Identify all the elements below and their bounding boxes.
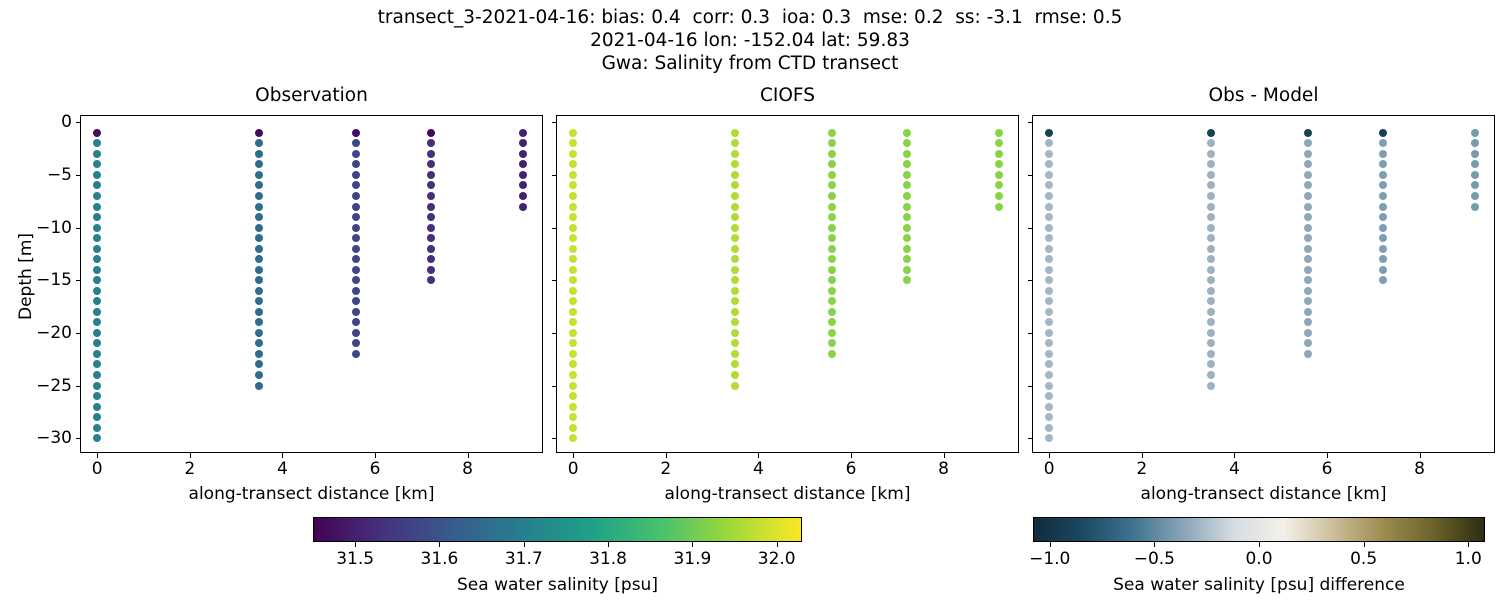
data-point [1207, 129, 1215, 137]
colorbar-tick [439, 542, 440, 547]
data-point [1304, 129, 1312, 137]
data-point [731, 213, 739, 221]
data-point [731, 255, 739, 263]
y-axis-tick [1028, 280, 1034, 281]
data-point [569, 392, 577, 400]
data-point [828, 150, 836, 158]
plot-area-observation [81, 116, 542, 452]
data-point [1045, 360, 1053, 368]
data-point [569, 434, 577, 442]
y-axis-tick [1028, 438, 1034, 439]
y-axis-tick-label: −15 [36, 270, 72, 290]
data-point [1207, 266, 1215, 274]
data-point [995, 203, 1003, 211]
data-point [731, 276, 739, 284]
colorbar-tick-label: 0.5 [1350, 549, 1377, 569]
y-axis-tick [1028, 122, 1034, 123]
data-point [1207, 360, 1215, 368]
data-point [427, 245, 435, 253]
colorbar-tick-label: 0.0 [1245, 549, 1272, 569]
data-point [569, 181, 577, 189]
colorbar-salinity-difference-label: Sea water salinity [psu] difference [1033, 575, 1485, 595]
data-point [519, 160, 527, 168]
colorbar-salinity: Sea water salinity [psu] 31.531.631.731.… [313, 517, 802, 542]
x-axis-tick-label: 8 [462, 459, 473, 479]
data-point [255, 255, 263, 263]
data-point [903, 203, 911, 211]
data-point [1045, 413, 1053, 421]
data-point [1207, 181, 1215, 189]
data-point [1207, 350, 1215, 358]
data-point [255, 192, 263, 200]
x-axis-tick [375, 452, 376, 458]
data-point [93, 129, 101, 137]
data-point [93, 318, 101, 326]
data-point [828, 350, 836, 358]
x-axis-label-obs-minus-model: along-transect distance [km] [1033, 484, 1494, 504]
data-point [1304, 203, 1312, 211]
data-point [1045, 339, 1053, 347]
data-point [731, 329, 739, 337]
data-point [569, 318, 577, 326]
data-point [255, 276, 263, 284]
x-axis-tick-label: 2 [184, 459, 195, 479]
panel-title-obs-minus-model: Obs - Model [1033, 85, 1494, 106]
x-axis-tick-label: 8 [1414, 459, 1425, 479]
data-point [903, 171, 911, 179]
colorbar-tick [608, 542, 609, 547]
data-point [352, 203, 360, 211]
y-axis-tick [552, 122, 558, 123]
data-point [255, 129, 263, 137]
data-point [569, 139, 577, 147]
data-point [255, 350, 263, 358]
colorbar-tick-label: 32.0 [758, 549, 796, 569]
data-point [828, 329, 836, 337]
data-point [1045, 266, 1053, 274]
y-axis-tick [552, 280, 558, 281]
data-point [427, 276, 435, 284]
plot-area-ciofs [557, 116, 1018, 452]
data-point [519, 192, 527, 200]
data-point [93, 413, 101, 421]
data-point [569, 129, 577, 137]
data-point [1207, 139, 1215, 147]
data-point [93, 160, 101, 168]
data-point [255, 245, 263, 253]
data-point [903, 150, 911, 158]
x-axis-label-observation: along-transect distance [km] [81, 484, 542, 504]
data-point [1207, 213, 1215, 221]
data-point [1471, 181, 1479, 189]
data-point [255, 234, 263, 242]
data-point [352, 276, 360, 284]
x-axis-tick [468, 452, 469, 458]
data-point [828, 203, 836, 211]
data-point [828, 339, 836, 347]
data-point [995, 160, 1003, 168]
panel-title-observation: Observation [81, 85, 542, 106]
data-point [1304, 255, 1312, 263]
data-point [93, 171, 101, 179]
data-point [255, 160, 263, 168]
x-axis-tick [97, 452, 98, 458]
data-point [1045, 160, 1053, 168]
data-point [1045, 245, 1053, 253]
y-axis-tick [76, 333, 82, 334]
x-axis-tick-label: 4 [1229, 459, 1240, 479]
data-point [1471, 203, 1479, 211]
data-point [903, 245, 911, 253]
data-point [352, 297, 360, 305]
data-point [569, 150, 577, 158]
data-point [1207, 318, 1215, 326]
data-point [1045, 203, 1053, 211]
data-point [828, 224, 836, 232]
data-point [93, 203, 101, 211]
colorbar-tick [1050, 542, 1051, 547]
data-point [569, 171, 577, 179]
data-point [1045, 424, 1053, 432]
data-point [731, 350, 739, 358]
data-point [731, 308, 739, 316]
x-axis-tick-label: 2 [1136, 459, 1147, 479]
y-axis-tick [76, 386, 82, 387]
data-point [1379, 139, 1387, 147]
data-point [352, 213, 360, 221]
data-point [569, 360, 577, 368]
data-point [903, 266, 911, 274]
data-point [93, 371, 101, 379]
y-axis-tick [76, 228, 82, 229]
data-point [995, 171, 1003, 179]
data-point [255, 329, 263, 337]
data-point [93, 392, 101, 400]
data-point [1045, 139, 1053, 147]
data-point [995, 192, 1003, 200]
data-point [1045, 382, 1053, 390]
y-axis-tick [1028, 228, 1034, 229]
y-axis-tick [1028, 386, 1034, 387]
data-point [1471, 129, 1479, 137]
data-point [93, 181, 101, 189]
data-point [1045, 318, 1053, 326]
data-point [93, 276, 101, 284]
data-point [828, 297, 836, 305]
data-point [255, 213, 263, 221]
data-point [903, 213, 911, 221]
data-point [1045, 371, 1053, 379]
data-point [352, 129, 360, 137]
data-point [1379, 171, 1387, 179]
data-point [1379, 255, 1387, 263]
data-point [569, 203, 577, 211]
data-point [255, 371, 263, 379]
panel-ciofs: CIOFS along-transect distance [km] 02468 [556, 115, 1019, 453]
colorbar-tick-label: −0.5 [1134, 549, 1175, 569]
data-point [1045, 350, 1053, 358]
data-point [255, 318, 263, 326]
data-point [569, 308, 577, 316]
y-axis-tick-label: −10 [36, 218, 72, 238]
data-point [569, 403, 577, 411]
data-point [352, 308, 360, 316]
data-point [828, 276, 836, 284]
data-point [731, 181, 739, 189]
data-point [1207, 382, 1215, 390]
data-point [352, 350, 360, 358]
colorbar-salinity-label: Sea water salinity [psu] [313, 575, 802, 595]
data-point [93, 339, 101, 347]
data-point [1379, 129, 1387, 137]
data-point [427, 129, 435, 137]
data-point [1045, 329, 1053, 337]
data-point [569, 213, 577, 221]
data-point [1304, 139, 1312, 147]
data-point [427, 171, 435, 179]
data-point [1045, 129, 1053, 137]
data-point [352, 171, 360, 179]
data-point [255, 171, 263, 179]
data-point [1045, 297, 1053, 305]
colorbar-tick-label: 31.8 [589, 549, 627, 569]
data-point [93, 255, 101, 263]
data-point [569, 339, 577, 347]
x-axis-tick-label: 8 [938, 459, 949, 479]
x-axis-tick [1327, 452, 1328, 458]
data-point [1045, 213, 1053, 221]
data-point [1304, 181, 1312, 189]
data-point [1045, 150, 1053, 158]
y-axis-tick [552, 228, 558, 229]
data-point [569, 371, 577, 379]
data-point [995, 150, 1003, 158]
data-point [1207, 308, 1215, 316]
data-point [352, 287, 360, 295]
x-axis-tick [573, 452, 574, 458]
data-point [731, 171, 739, 179]
data-point [1304, 308, 1312, 316]
data-point [1045, 192, 1053, 200]
data-point [93, 213, 101, 221]
data-point [1207, 171, 1215, 179]
data-point [828, 318, 836, 326]
data-point [352, 318, 360, 326]
data-point [427, 139, 435, 147]
data-point [1207, 234, 1215, 242]
data-point [352, 139, 360, 147]
data-point [427, 255, 435, 263]
data-point [1379, 203, 1387, 211]
data-point [255, 139, 263, 147]
x-axis-tick-label: 0 [1044, 459, 1055, 479]
y-axis-tick [76, 122, 82, 123]
suptitle-line-2: 2021-04-16 lon: -152.04 lat: 59.83 [0, 29, 1500, 52]
data-point [1304, 171, 1312, 179]
data-point [352, 192, 360, 200]
data-point [352, 339, 360, 347]
data-point [569, 160, 577, 168]
data-point [569, 224, 577, 232]
data-point [1304, 350, 1312, 358]
data-point [1207, 297, 1215, 305]
y-axis-label: Depth [m] [16, 233, 36, 320]
data-point [569, 276, 577, 284]
data-point [1045, 181, 1053, 189]
x-axis-tick [944, 452, 945, 458]
data-point [569, 234, 577, 242]
data-point [828, 255, 836, 263]
data-point [1207, 203, 1215, 211]
data-point [255, 266, 263, 274]
data-point [903, 255, 911, 263]
colorbar-salinity-difference: Sea water salinity [psu] difference −1.0… [1033, 517, 1485, 542]
data-point [1045, 287, 1053, 295]
data-point [995, 129, 1003, 137]
colorbar-salinity-gradient [313, 517, 802, 542]
x-axis-label-ciofs: along-transect distance [km] [557, 484, 1018, 504]
data-point [569, 413, 577, 421]
data-point [731, 150, 739, 158]
data-point [569, 350, 577, 358]
data-point [731, 371, 739, 379]
colorbar-tick-label: 1.0 [1455, 549, 1482, 569]
data-point [731, 139, 739, 147]
data-point [569, 266, 577, 274]
data-point [903, 224, 911, 232]
data-point [255, 150, 263, 158]
data-point [1207, 160, 1215, 168]
data-point [731, 382, 739, 390]
data-point [1379, 276, 1387, 284]
data-point [1304, 339, 1312, 347]
data-point [1304, 276, 1312, 284]
data-point [1304, 234, 1312, 242]
data-point [93, 360, 101, 368]
data-point [427, 160, 435, 168]
data-point [828, 160, 836, 168]
data-point [93, 308, 101, 316]
y-axis-tick [76, 280, 82, 281]
data-point [1471, 150, 1479, 158]
data-point [731, 318, 739, 326]
data-point [1207, 287, 1215, 295]
data-point [828, 139, 836, 147]
data-point [1471, 192, 1479, 200]
data-point [93, 192, 101, 200]
data-point [903, 139, 911, 147]
x-axis-tick-label: 6 [370, 459, 381, 479]
data-point [519, 181, 527, 189]
y-axis-tick [76, 438, 82, 439]
data-point [828, 171, 836, 179]
colorbar-tick [692, 542, 693, 547]
data-point [519, 150, 527, 158]
data-point [828, 245, 836, 253]
panel-obs-minus-model: Obs - Model along-transect distance [km]… [1032, 115, 1495, 453]
data-point [255, 339, 263, 347]
data-point [1207, 150, 1215, 158]
data-point [427, 150, 435, 158]
colorbar-tick [1468, 542, 1469, 547]
data-point [731, 224, 739, 232]
data-point [1045, 171, 1053, 179]
data-point [352, 234, 360, 242]
data-point [352, 150, 360, 158]
data-point [519, 129, 527, 137]
data-point [569, 297, 577, 305]
data-point [352, 160, 360, 168]
data-point [255, 203, 263, 211]
data-point [1379, 160, 1387, 168]
data-point [1379, 213, 1387, 221]
data-point [1045, 234, 1053, 242]
y-axis-tick [1028, 333, 1034, 334]
data-point [731, 339, 739, 347]
data-point [93, 234, 101, 242]
panel-title-ciofs: CIOFS [557, 85, 1018, 106]
data-point [828, 266, 836, 274]
colorbar-tick-label: 31.5 [336, 549, 374, 569]
data-point [1045, 276, 1053, 284]
data-point [93, 403, 101, 411]
data-point [255, 308, 263, 316]
data-point [569, 287, 577, 295]
data-point [519, 203, 527, 211]
data-point [1304, 213, 1312, 221]
data-point [352, 181, 360, 189]
data-point [519, 171, 527, 179]
data-point [731, 160, 739, 168]
data-point [828, 234, 836, 242]
data-point [569, 382, 577, 390]
data-point [255, 287, 263, 295]
x-axis-tick [1142, 452, 1143, 458]
data-point [427, 224, 435, 232]
data-point [93, 287, 101, 295]
x-axis-tick-label: 2 [660, 459, 671, 479]
y-axis-tick [552, 386, 558, 387]
data-point [1379, 234, 1387, 242]
data-point [569, 329, 577, 337]
data-point [352, 224, 360, 232]
data-point [828, 213, 836, 221]
colorbar-tick [524, 542, 525, 547]
data-point [731, 297, 739, 305]
data-point [1207, 339, 1215, 347]
data-point [903, 129, 911, 137]
colorbar-tick-label: 31.6 [421, 549, 459, 569]
y-axis-tick [552, 333, 558, 334]
x-axis-tick [666, 452, 667, 458]
data-point [1471, 139, 1479, 147]
data-point [731, 360, 739, 368]
data-point [1207, 245, 1215, 253]
data-point [828, 129, 836, 137]
colorbar-tick [355, 542, 356, 547]
panel-observation: Observation along-transect distance [km]… [80, 115, 543, 453]
data-point [1045, 255, 1053, 263]
data-point [255, 360, 263, 368]
data-point [1379, 181, 1387, 189]
x-axis-tick [190, 452, 191, 458]
plot-area-obs-minus-model [1033, 116, 1494, 452]
data-point [1207, 371, 1215, 379]
data-point [1304, 297, 1312, 305]
y-axis-tick-label: 0 [61, 112, 72, 132]
data-point [93, 434, 101, 442]
data-point [93, 150, 101, 158]
